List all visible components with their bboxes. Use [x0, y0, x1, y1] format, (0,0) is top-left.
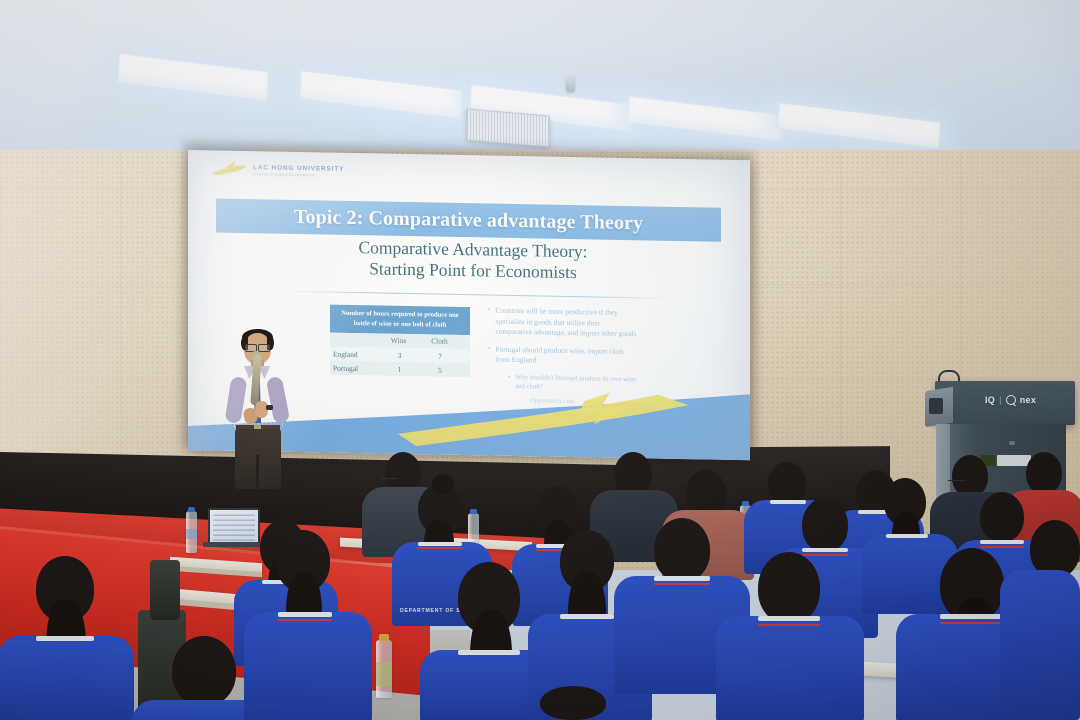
- cell-country-portugal: Portugal: [330, 361, 388, 376]
- brand-iq-text: IQ: [985, 395, 995, 405]
- bottle-cap: [742, 501, 749, 506]
- podium-port: [929, 398, 943, 414]
- bottle-cap: [470, 509, 477, 514]
- university-logo: LAC HONG UNIVERSITY Innovation Quality D…: [212, 160, 344, 179]
- cell-portugal-wine: 1: [388, 362, 428, 377]
- bottle-cap: [379, 634, 389, 641]
- slide-subtitle: Comparative Advantage Theory: Starting P…: [238, 235, 708, 285]
- bullet-text-1: Countries will be more productive if the…: [495, 306, 638, 340]
- laptop-base: [203, 542, 261, 547]
- presenter-leg-separation: [256, 455, 259, 489]
- presenter: [222, 329, 292, 489]
- ceiling-sprinkler: [566, 76, 575, 92]
- hours-required-table: Number of hours required to produce one …: [330, 305, 470, 378]
- slide-divider: [280, 291, 672, 299]
- brand-nex-text: nex: [1020, 395, 1036, 405]
- podium-brand-label: IQ | nex: [985, 395, 1036, 405]
- sub-bullet-dot-icon: •: [508, 372, 510, 391]
- bullet-dot-icon: •: [488, 344, 490, 365]
- cell-england-wine: 3: [388, 348, 428, 363]
- cell-england-cloth: 7: [428, 348, 470, 363]
- bullet-dot-icon: •: [488, 305, 490, 337]
- bottle-label: [376, 662, 392, 686]
- cell-country-england: England: [330, 347, 388, 362]
- slide-title: Topic 2: Comparative advantage Theory: [294, 205, 643, 234]
- laptop-screen[interactable]: [208, 508, 260, 546]
- brand-divider: |: [999, 395, 1002, 405]
- table-row: Portugal 1 5: [330, 361, 470, 378]
- table-col-cloth: Cloth: [428, 334, 470, 349]
- q-circle-icon: [1006, 395, 1016, 405]
- podium-knob: [1009, 441, 1015, 445]
- presenter-wristwatch: [266, 405, 273, 410]
- lecture-hall-photo: LAC HONG UNIVERSITY Innovation Quality D…: [0, 0, 1080, 720]
- table-col-wine: Wine: [388, 333, 428, 348]
- bottle-cap: [188, 507, 195, 512]
- bullet-text-2: Portugal should produce wine, import clo…: [495, 344, 638, 368]
- chair-back: [150, 560, 180, 620]
- table-col-blank: [330, 332, 388, 347]
- star-swoosh-icon: [212, 160, 248, 178]
- podium-label-light: [997, 455, 1031, 466]
- list-item: • Portugal should produce wine, import c…: [488, 344, 638, 368]
- bottle-label: [186, 529, 197, 539]
- table-caption: Number of hours required to produce one …: [330, 305, 470, 335]
- laptop-screen-content: [213, 513, 255, 541]
- cell-portugal-cloth: 5: [428, 363, 470, 378]
- list-item: • Countries will be more productive if t…: [488, 305, 638, 339]
- presenter-glasses: [245, 344, 270, 350]
